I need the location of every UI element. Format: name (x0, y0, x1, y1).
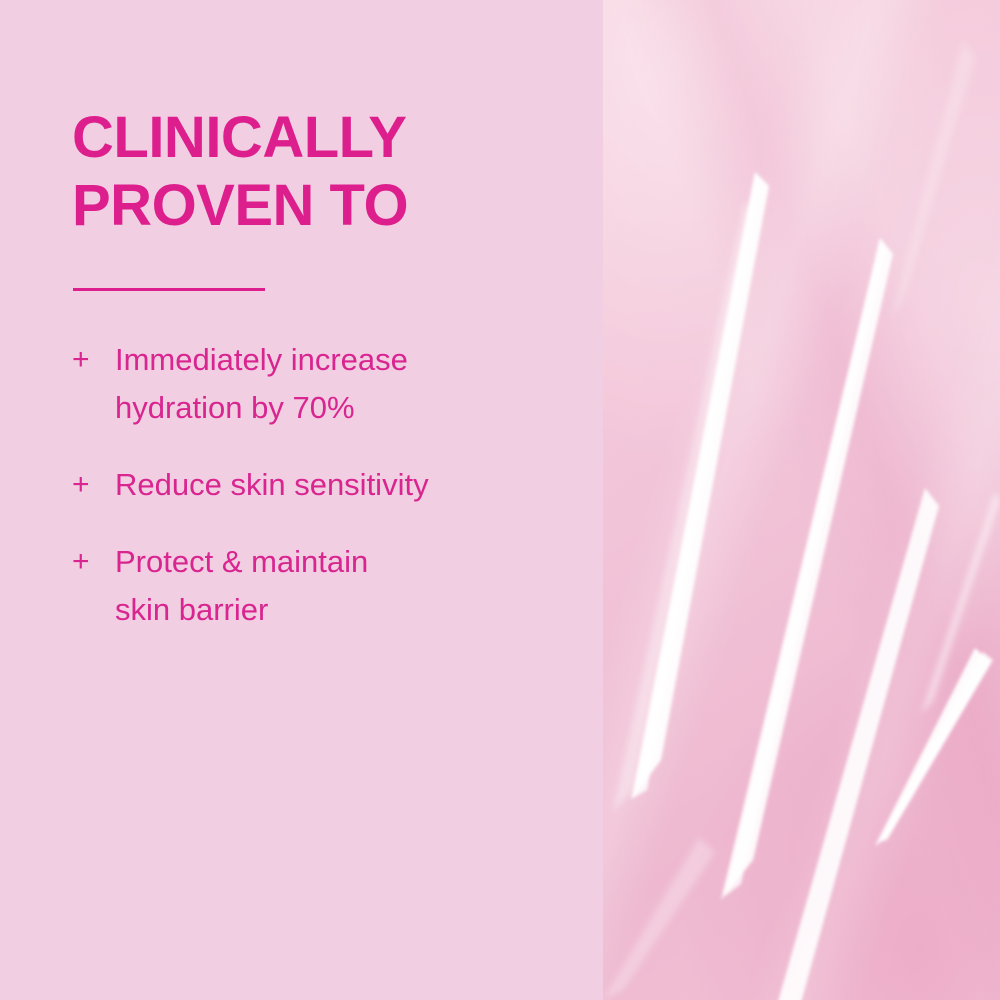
streak-icon (631, 172, 769, 800)
copy-panel: CLINICALLY PROVEN TO + Immediately incre… (0, 0, 603, 1000)
headline-line-2: PROVEN TO (72, 172, 572, 240)
benefit-line-1: Reduce skin sensitivity (115, 461, 572, 509)
headline-line-1: CLINICALLY (72, 104, 572, 172)
gel-texture-panel (603, 0, 1000, 1000)
page-title: CLINICALLY PROVEN TO (72, 104, 572, 240)
benefits-list: + Immediately increase hydration by 70% … (72, 336, 572, 634)
list-item: + Protect & maintain skin barrier (72, 538, 572, 634)
streak-icon (613, 200, 753, 812)
benefit-line-2: hydration by 70% (115, 384, 572, 432)
benefit-line-2: skin barrier (115, 586, 572, 634)
benefit-line-1: Immediately increase (115, 336, 572, 384)
list-item: + Reduce skin sensitivity (72, 461, 572, 509)
benefit-line-1: Protect & maintain (115, 538, 572, 586)
list-item: + Immediately increase hydration by 70% (72, 336, 572, 432)
streak-icon (891, 40, 975, 318)
streak-icon (721, 238, 893, 900)
streak-icon (603, 838, 715, 1000)
plus-icon: + (72, 336, 98, 384)
plus-icon: + (72, 538, 98, 586)
streak-icon (767, 488, 939, 1000)
divider-rule (73, 288, 265, 291)
plus-icon: + (72, 461, 98, 509)
gel-streaks-group (603, 0, 1000, 1000)
promo-canvas: CLINICALLY PROVEN TO + Immediately incre… (0, 0, 1000, 1000)
